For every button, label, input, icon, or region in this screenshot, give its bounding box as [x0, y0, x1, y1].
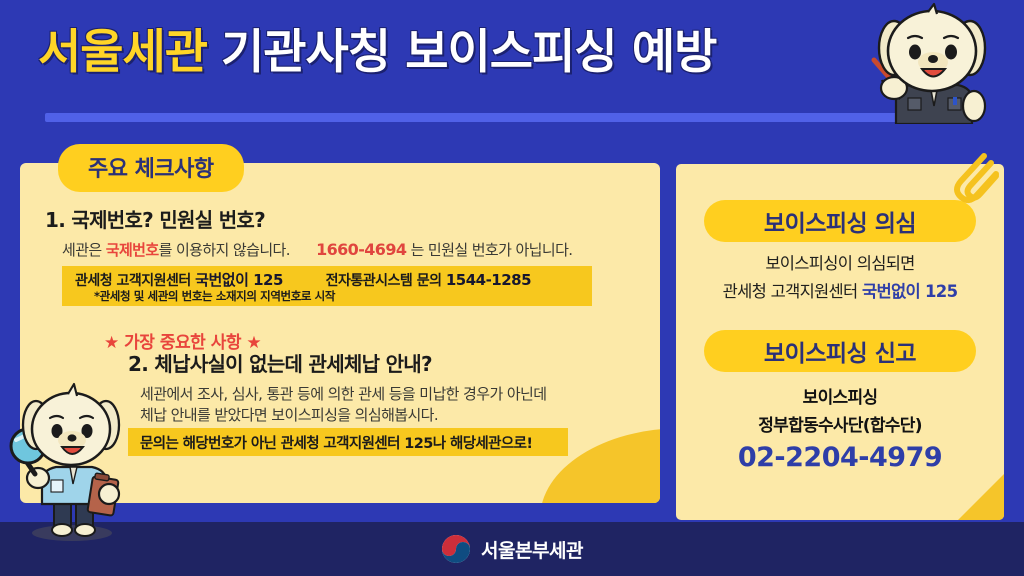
dog-mascot-pointer-icon — [860, 2, 1010, 124]
item1-desc-accent: 국제번호 — [106, 241, 159, 259]
header-divider-rule — [45, 113, 975, 122]
item1-description: 세관은 국제번호를 이용하지 않습니다. 1660-4694 는 민원실 번호가… — [62, 239, 572, 260]
item1-heading: 1. 국제번호? 민원실 번호? — [45, 204, 265, 233]
item2-inquiry-text: 문의는 해당번호가 아닌 관세청 고객지원센터 125나 해당세관으로! — [128, 432, 532, 453]
page-title-highlight: 서울세관 — [38, 27, 207, 80]
item2-inquiry-highlight: 문의는 해당번호가 아닌 관세청 고객지원센터 125나 해당세관으로! — [128, 428, 568, 456]
suspect-line2-prefix: 관세청 고객지원센터 — [723, 282, 862, 301]
item1-desc-middle: 를 이용하지 않습니다. — [159, 241, 290, 259]
item2-body-line1: 세관에서 조사, 심사, 통관 등에 의한 관세 등을 미납한 경우가 아닌데 — [140, 383, 546, 404]
main-card-badge-label: 주요 체크사항 — [88, 157, 214, 182]
taegeuk-logo-icon — [441, 534, 471, 564]
most-important-star-line: ★ 가장 중요한 사항 ★ — [104, 328, 261, 353]
report-line2: 정부합동수사단(합수단) — [676, 411, 1004, 436]
suspect-line2: 관세청 고객지원센터 국번없이 125 — [676, 278, 1004, 302]
page-title: 서울세관 기관사칭 보이스피싱 예방 — [38, 27, 716, 80]
sidebar-pill-report: 보이스피싱 신고 — [704, 330, 976, 372]
sidebar-pill-report-label: 보이스피싱 신고 — [764, 334, 916, 368]
footer-organization-label: 서울본부세관 — [481, 536, 583, 563]
paperclip-icon — [944, 146, 1000, 208]
item2-body-line2: 체납 안내를 받았다면 보이스피싱을 의심해봅시다. — [140, 404, 438, 425]
contact1-value: 국번없이 125 — [195, 271, 283, 289]
main-card-badge: 주요 체크사항 — [58, 144, 244, 192]
item1-contacts-row: 관세청 고객지원센터 국번없이 125 전자통관시스템 문의 1544-1285 — [75, 269, 531, 290]
suspect-line2-accent: 국번없이 125 — [862, 282, 957, 301]
report-line1: 보이스피싱 — [676, 383, 1004, 408]
footer-bar: 서울본부세관 — [0, 522, 1024, 576]
item1-fake-number: 1660-4694 — [316, 240, 406, 259]
suspect-line1: 보이스피싱이 의심되면 — [676, 250, 1004, 274]
sidebar-pill-suspect: 보이스피싱 의심 — [704, 200, 976, 242]
contact1-label: 관세청 고객지원센터 — [75, 273, 191, 289]
sidebar-pill-suspect-label: 보이스피싱 의심 — [764, 204, 916, 238]
report-phone-number: 02-2204-4979 — [676, 442, 1004, 473]
item1-desc-suffix: 는 민원실 번호가 아닙니다. — [411, 241, 573, 259]
page-title-rest: 기관사칭 보이스피싱 예방 — [221, 27, 716, 80]
item1-footnote: *관세청 및 세관의 번호는 소재지의 지역번호로 시작 — [94, 288, 335, 304]
dog-mascot-magnifier-icon — [2, 378, 134, 542]
poster-root: 서울세관 기관사칭 보이스피싱 예방 — [0, 0, 1024, 576]
item1-desc-prefix: 세관은 — [62, 241, 106, 259]
contact2-value: 1544-1285 — [446, 271, 531, 289]
contact2-label: 전자통관시스템 문의 — [326, 273, 442, 289]
sidebar-corner-curl — [958, 474, 1004, 520]
item1-contacts-highlight: 관세청 고객지원센터 국번없이 125 전자통관시스템 문의 1544-1285… — [62, 266, 592, 306]
